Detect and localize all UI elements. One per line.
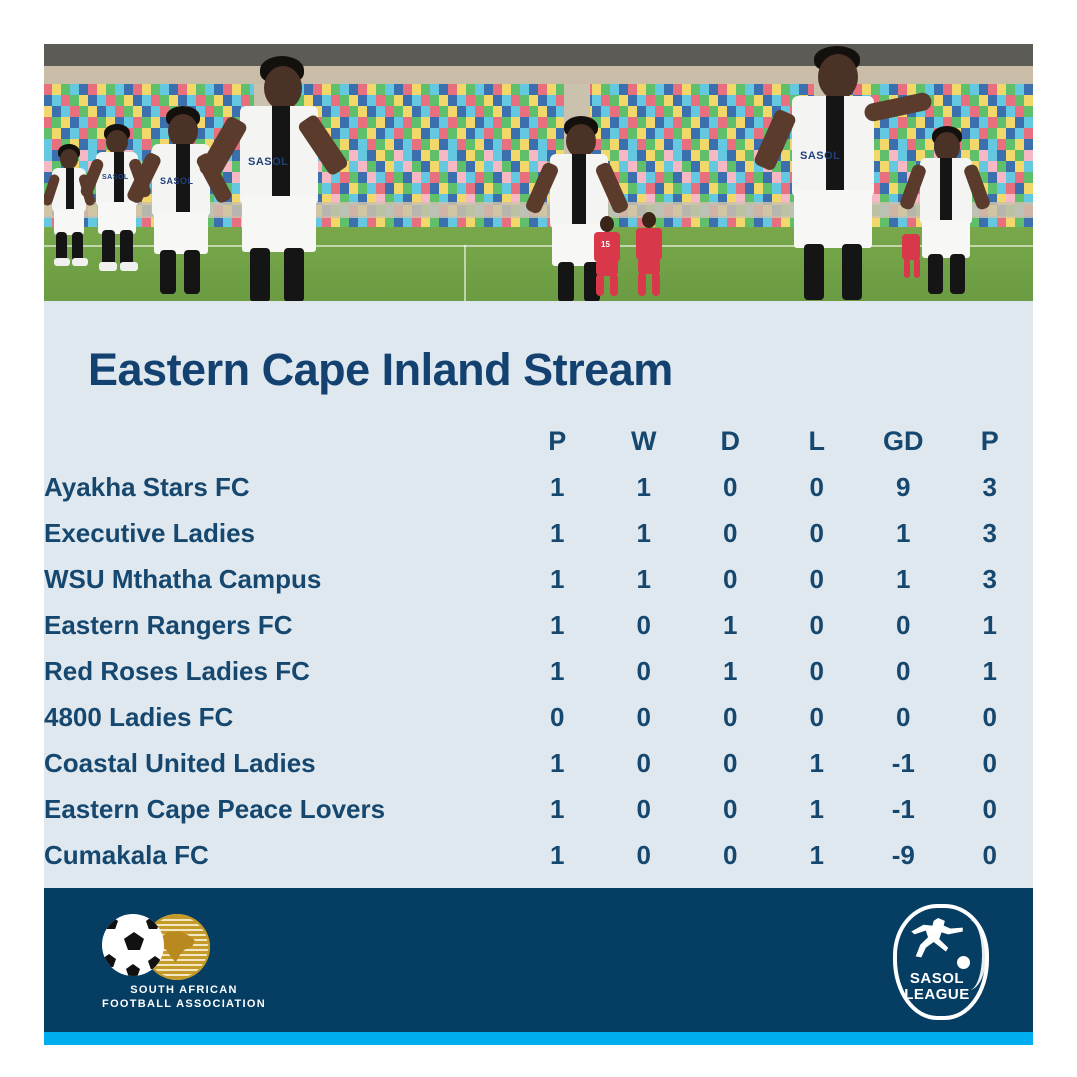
cell-drawn: 0 [687,832,774,878]
standings-card: SASOL SASOL [44,44,1033,1045]
opponent-number: 15 [601,240,610,249]
cell-played: 1 [514,786,601,832]
cell-won: 1 [601,464,688,510]
safa-logo-line1: SOUTH AFRICAN [94,984,274,996]
cell-points: 1 [947,648,1034,694]
sasol-logo-line1: SASOL [889,970,985,987]
cell-played: 1 [514,556,601,602]
team-name: 4800 Ladies FC [44,694,514,740]
team-name: Coastal United Ladies [44,740,514,786]
table-row: Cumakala FC 1 0 0 1 -9 0 [44,832,1033,878]
header-drawn: D [687,418,774,464]
cell-points: 3 [947,510,1034,556]
table-row: Red Roses Ladies FC 1 0 1 0 0 1 [44,648,1033,694]
table-row: WSU Mthatha Campus 1 1 0 0 1 3 [44,556,1033,602]
cell-won: 0 [601,602,688,648]
cell-won: 0 [601,648,688,694]
team-name: Eastern Rangers FC [44,602,514,648]
cell-played: 1 [514,832,601,878]
cell-points: 0 [947,832,1034,878]
table-row: Coastal United Ladies 1 0 0 1 -1 0 [44,740,1033,786]
team-name: Cumakala FC [44,832,514,878]
cell-drawn: 0 [687,694,774,740]
table-header-row: P W D L GD P [44,418,1033,464]
africa-map-icon [158,930,198,964]
header-played: P [514,418,601,464]
cell-won: 0 [601,786,688,832]
cell-lost: 1 [774,740,861,786]
cyan-accent-bar [44,1032,1033,1045]
standings-table: P W D L GD P Ayakha Stars FC 1 1 0 0 [44,418,1033,878]
cell-points: 3 [947,556,1034,602]
cell-lost: 0 [774,510,861,556]
header-photo: SASOL SASOL [44,44,1033,301]
cell-drawn: 0 [687,510,774,556]
header-won: W [601,418,688,464]
cell-drawn: 0 [687,556,774,602]
header-lost: L [774,418,861,464]
cell-drawn: 0 [687,464,774,510]
cell-points: 0 [947,694,1034,740]
cell-played: 1 [514,510,601,556]
cell-drawn: 1 [687,602,774,648]
standings-table-wrapper: P W D L GD P Ayakha Stars FC 1 1 0 0 [44,418,1033,878]
cell-lost: 0 [774,694,861,740]
header-points: P [947,418,1034,464]
cell-goal-difference: -1 [860,740,947,786]
cell-drawn: 1 [687,648,774,694]
safa-logo: SOUTH AFRICAN FOOTBALL ASSOCIATION [94,910,274,1010]
cell-goal-difference: 0 [860,694,947,740]
cell-lost: 0 [774,648,861,694]
cell-won: 0 [601,832,688,878]
team-name: Executive Ladies [44,510,514,556]
cell-goal-difference: 0 [860,648,947,694]
cell-played: 1 [514,740,601,786]
team-name: WSU Mthatha Campus [44,556,514,602]
table-row: 4800 Ladies FC 0 0 0 0 0 0 [44,694,1033,740]
cell-won: 0 [601,740,688,786]
sasol-league-logo: SASOL LEAGUE [889,902,985,1016]
cell-played: 1 [514,602,601,648]
cell-won: 1 [601,556,688,602]
cell-points: 0 [947,786,1034,832]
cell-won: 1 [601,510,688,556]
header-team [44,418,514,464]
cell-goal-difference: 0 [860,602,947,648]
cell-drawn: 0 [687,786,774,832]
cell-lost: 0 [774,602,861,648]
cell-points: 0 [947,740,1034,786]
cell-points: 3 [947,464,1034,510]
poster-canvas: SASOL SASOL [0,0,1077,1077]
cell-goal-difference: -9 [860,832,947,878]
cell-played: 1 [514,464,601,510]
soccer-ball-icon [102,914,164,976]
team-name: Red Roses Ladies FC [44,648,514,694]
header-goal-difference: GD [860,418,947,464]
table-row: Ayakha Stars FC 1 1 0 0 9 3 [44,464,1033,510]
team-name: Eastern Cape Peace Lovers [44,786,514,832]
cell-points: 1 [947,602,1034,648]
cell-lost: 1 [774,786,861,832]
cell-played: 0 [514,694,601,740]
footer-bar: SOUTH AFRICAN FOOTBALL ASSOCIATION SASOL… [44,888,1033,1032]
table-row: Eastern Cape Peace Lovers 1 0 0 1 -1 0 [44,786,1033,832]
team-name: Ayakha Stars FC [44,464,514,510]
table-row: Eastern Rangers FC 1 0 1 0 0 1 [44,602,1033,648]
cell-goal-difference: -1 [860,786,947,832]
cell-goal-difference: 9 [860,464,947,510]
cell-goal-difference: 1 [860,510,947,556]
cell-won: 0 [601,694,688,740]
safa-logo-line2: FOOTBALL ASSOCIATION [94,998,274,1010]
cell-drawn: 0 [687,740,774,786]
cell-played: 1 [514,648,601,694]
page-title: Eastern Cape Inland Stream [88,344,673,396]
cell-lost: 0 [774,464,861,510]
sasol-logo-line2: LEAGUE [889,986,985,1003]
cell-lost: 1 [774,832,861,878]
badge-ball-icon [957,956,970,969]
cell-lost: 0 [774,556,861,602]
table-row: Executive Ladies 1 1 0 0 1 3 [44,510,1033,556]
cell-goal-difference: 1 [860,556,947,602]
